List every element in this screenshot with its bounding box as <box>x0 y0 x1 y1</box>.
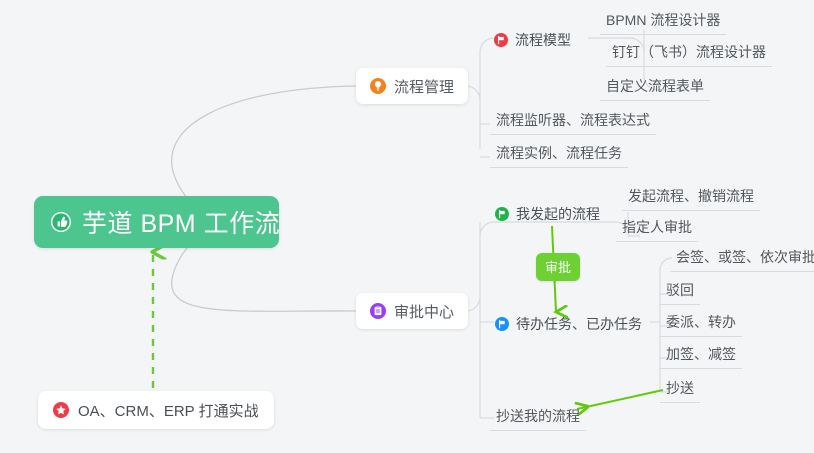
mindmap-canvas[interactable]: 芋道 BPM 工作流 流程管理 流程模型 BPMN 流程设计器 钉钉（飞书）流程… <box>0 0 814 453</box>
star-icon <box>53 402 69 418</box>
leaf-node[interactable]: 驳回 <box>660 280 700 305</box>
sub-node-todo-done-tasks[interactable]: 待办任务、已办任务 <box>495 314 642 334</box>
sub-node-label: 我发起的流程 <box>516 204 600 224</box>
root-label: 芋道 BPM 工作流 <box>82 204 280 240</box>
leaf-node[interactable]: BPMN 流程设计器 <box>600 10 726 35</box>
annotation-tag-label: 审批 <box>545 260 571 275</box>
leaf-node[interactable]: 会签、或签、依次审批 <box>670 247 814 272</box>
sub-node-process-model[interactable]: 流程模型 <box>494 30 571 50</box>
leaf-node[interactable]: 委派、转办 <box>660 312 742 337</box>
note-card[interactable]: OA、CRM、ERP 打通实战 <box>38 391 274 429</box>
branch-label: 流程管理 <box>394 76 454 97</box>
flag-icon <box>494 33 508 47</box>
lightbulb-icon <box>370 78 386 94</box>
clipboard-icon <box>370 303 386 319</box>
leaf-node[interactable]: 抄送 <box>660 378 700 403</box>
leaf-node[interactable]: 钉钉（飞书）流程设计器 <box>606 42 772 67</box>
branch-node-approval-center[interactable]: 审批中心 <box>356 293 468 329</box>
leaf-node[interactable]: 自定义流程表单 <box>600 76 710 101</box>
branch-label: 审批中心 <box>394 301 454 322</box>
sub-node-label: 流程模型 <box>515 30 571 50</box>
note-label: OA、CRM、ERP 打通实战 <box>78 400 259 421</box>
sub-node-my-started-process[interactable]: 我发起的流程 <box>495 204 600 224</box>
root-node[interactable]: 芋道 BPM 工作流 <box>34 196 279 248</box>
leaf-node[interactable]: 发起流程、撤销流程 <box>622 186 760 211</box>
thumbs-up-icon <box>50 211 72 233</box>
leaf-node[interactable]: 流程监听器、流程表达式 <box>490 110 656 135</box>
annotation-tag-approval[interactable]: 审批 <box>536 253 580 281</box>
leaf-node[interactable]: 加签、减签 <box>660 344 742 369</box>
flag-icon <box>495 207 509 221</box>
leaf-node[interactable]: 抄送我的流程 <box>490 406 586 431</box>
branch-node-process-management[interactable]: 流程管理 <box>356 68 468 104</box>
leaf-node[interactable]: 流程实例、流程任务 <box>490 143 628 168</box>
leaf-node[interactable]: 指定人审批 <box>616 217 698 242</box>
flag-icon <box>495 317 509 331</box>
cc-flow-arrow <box>577 390 663 409</box>
sub-node-label: 待办任务、已办任务 <box>516 314 642 334</box>
